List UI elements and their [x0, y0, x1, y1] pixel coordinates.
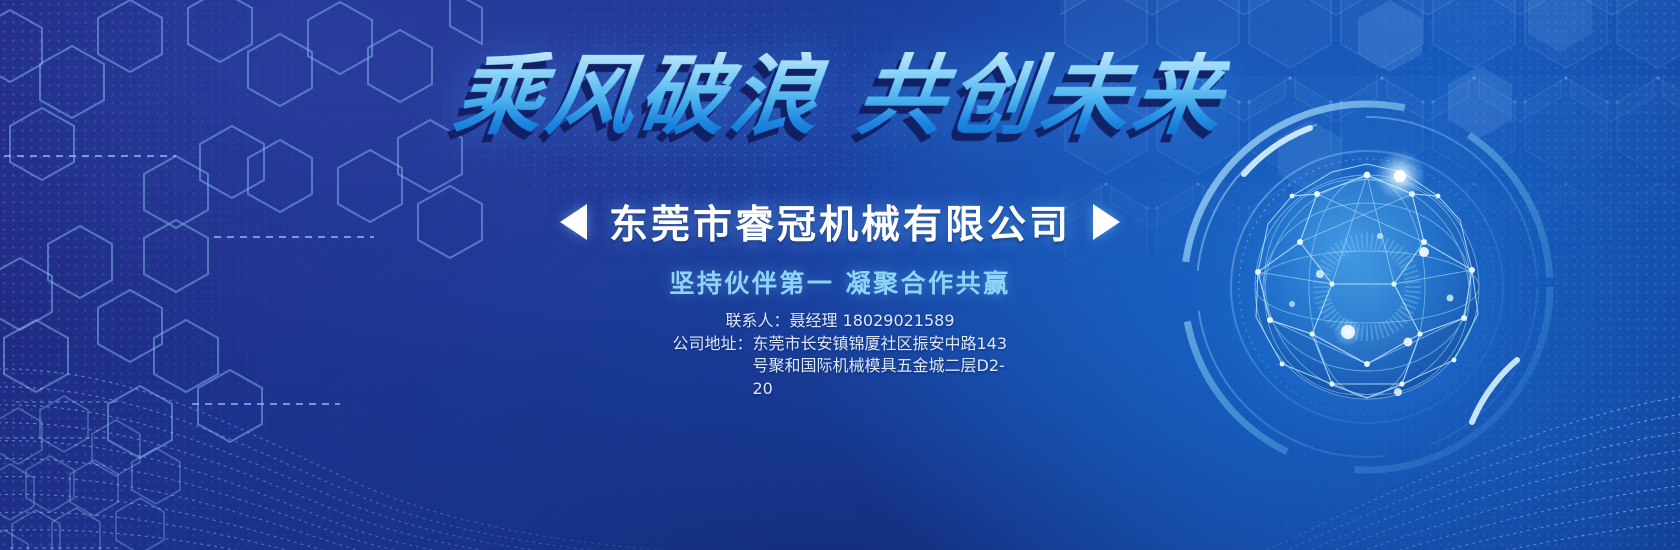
company-name: 东莞市睿冠机械有限公司	[609, 194, 1071, 250]
left-triangle-icon	[560, 204, 587, 240]
main-title: 乘风破浪 共创未来	[449, 52, 1230, 140]
main-title-wrap: 乘风破浪 共创未来	[0, 52, 1680, 140]
right-triangle-icon	[1093, 204, 1120, 240]
promo-banner: 乘风破浪 共创未来 东莞市睿冠机械有限公司 坚持伙伴第一 凝聚合作共赢 联系人：…	[0, 0, 1680, 550]
company-name-row: 东莞市睿冠机械有限公司	[0, 194, 1680, 250]
address-value: 东莞市长安镇锦厦社区振安中路143号聚和国际机械模具五金城二层D2-20	[753, 333, 1008, 401]
slogan: 坚持伙伴第一 凝聚合作共赢	[0, 264, 1680, 300]
address-label: 公司地址：	[672, 333, 752, 401]
contact-block: 联系人：聂经理 18029021589 公司地址： 东莞市长安镇锦厦社区振安中路…	[0, 310, 1680, 401]
company-address-line: 公司地址： 东莞市长安镇锦厦社区振安中路143号聚和国际机械模具五金城二层D2-…	[0, 333, 1680, 401]
contact-person-line: 联系人：聂经理 18029021589	[0, 310, 1680, 333]
